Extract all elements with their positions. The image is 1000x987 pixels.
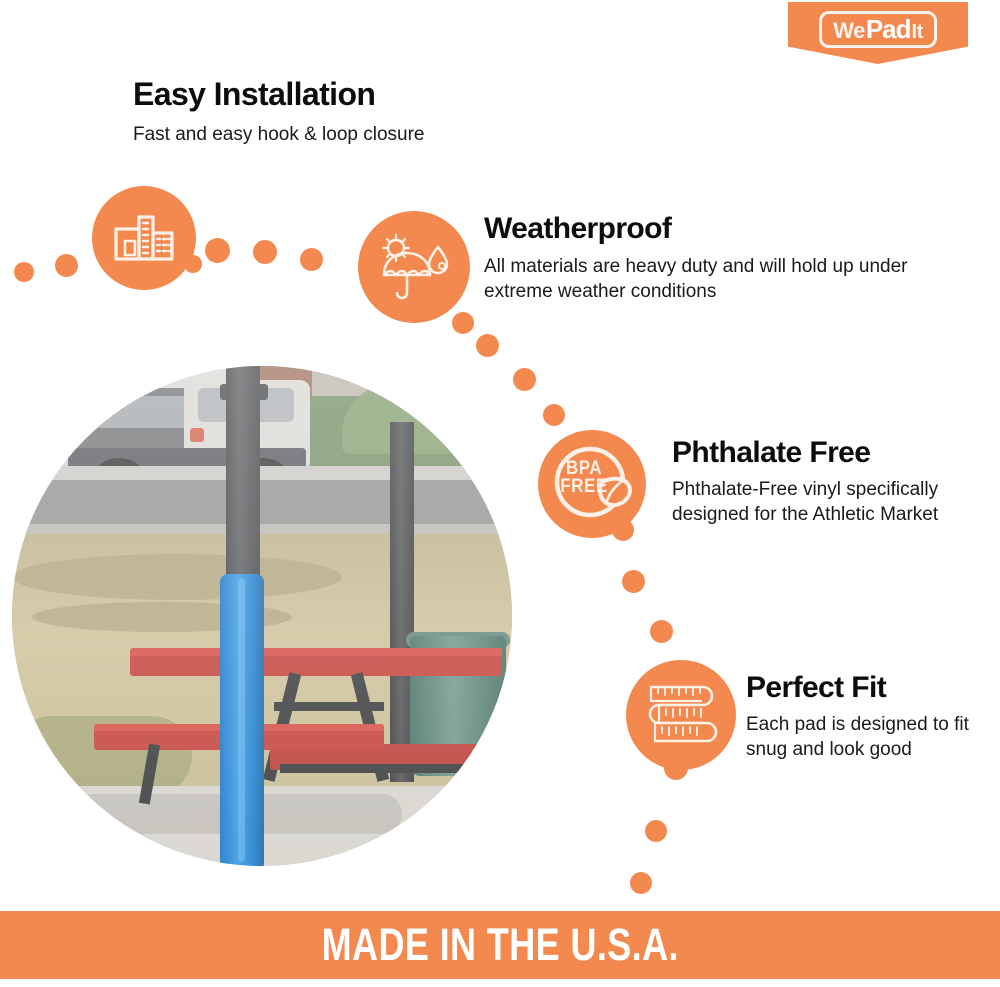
bpa-free-leaf-icon: BPA FREE [546,438,638,530]
brand-logo-badge[interactable]: We Pad It [788,2,968,64]
path-dot [630,872,652,894]
path-dot [645,820,667,842]
bpa-line-2: FREE [560,476,607,497]
made-in-usa-text: MADE IN THE U.S.A. [321,919,678,971]
path-dot [543,404,565,426]
feature-desc-easy-installation: Fast and easy hook & loop closure [133,122,553,147]
feature-desc-weatherproof: All materials are heavy duty and will ho… [484,254,914,304]
decor-blob-weather [452,312,474,334]
decor-blob-fit [664,756,688,780]
path-dot [300,248,323,271]
brand-logo-we: We [833,20,865,42]
installation-building-icon [113,211,175,265]
feature-desc-phthalate-free: Phthalate-Free vinyl specifically design… [672,477,972,527]
product-photo [12,366,512,866]
brand-logo-pad: Pad [866,16,911,42]
feature-icon-circle-weatherproof[interactable] [358,211,470,323]
decor-blob-install [184,255,202,273]
feature-block-phthalate-free: Phthalate Free Phthalate-Free vinyl spec… [672,437,972,527]
feature-block-perfect-fit: Perfect Fit Each pad is designed to fit … [746,672,986,762]
measuring-tape-icon [641,679,721,751]
brand-logo-it: It [912,22,923,42]
path-dot [253,240,277,264]
made-in-usa-banner: MADE IN THE U.S.A. [0,911,1000,979]
feature-icon-circle-easy-installation[interactable] [92,186,196,290]
path-dot [476,334,499,357]
path-dot [55,254,78,277]
bpa-free-label: BPA FREE [550,460,618,496]
umbrella-sun-rain-icon [376,233,452,301]
feature-title-phthalate-free: Phthalate Free [672,437,972,469]
feature-block-weatherproof: Weatherproof All materials are heavy dut… [484,213,914,304]
brand-logo-frame: We Pad It [819,11,937,48]
path-dot [513,368,536,391]
path-dot [14,262,34,282]
feature-icon-circle-perfect-fit[interactable] [626,660,736,770]
path-dot [622,570,645,593]
feature-block-easy-installation: Easy Installation Fast and easy hook & l… [133,78,553,147]
decor-blob-bpa [612,519,634,541]
path-dot [205,238,230,263]
feature-title-easy-installation: Easy Installation [133,78,553,112]
feature-title-weatherproof: Weatherproof [484,213,914,245]
feature-desc-perfect-fit: Each pad is designed to fit snug and loo… [746,712,986,762]
infographic-canvas: We Pad It Easy Installation Fast and eas… [0,0,1000,987]
feature-title-perfect-fit: Perfect Fit [746,672,986,704]
path-dot [650,620,673,643]
